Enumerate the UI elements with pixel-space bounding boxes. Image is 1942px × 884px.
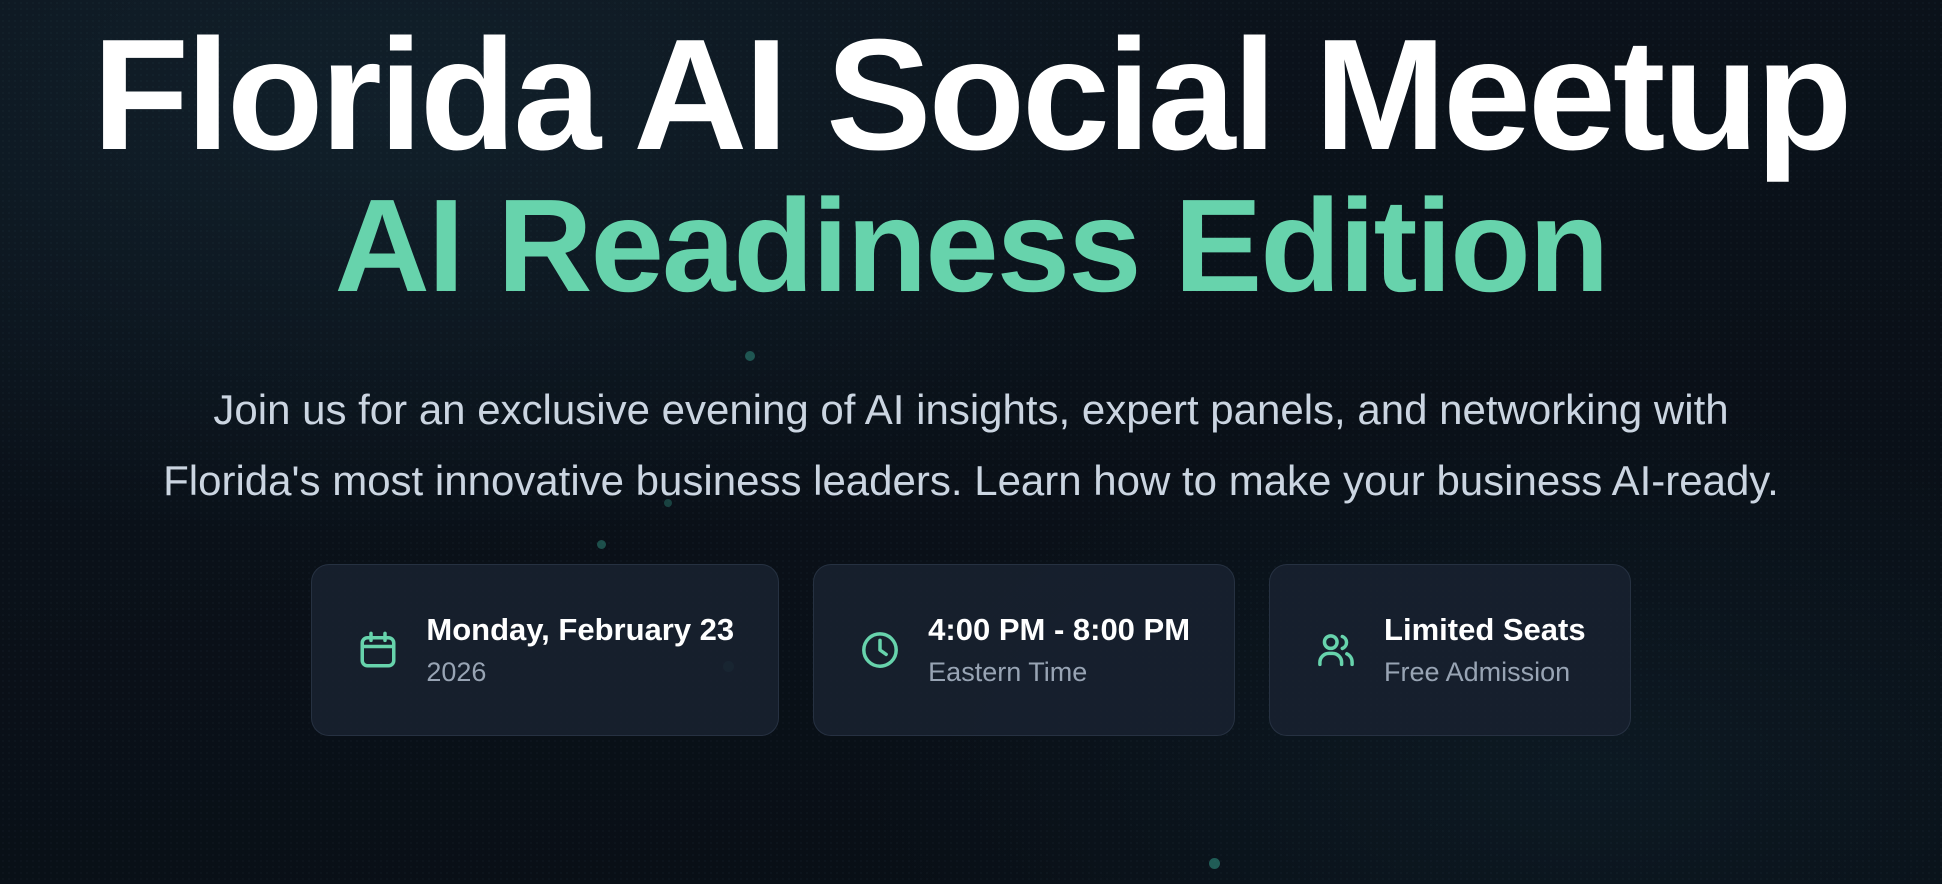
info-card-subtitle: 2026 [426, 654, 734, 690]
page-subtitle: AI Readiness Edition [0, 174, 1942, 312]
hero-section: Florida AI Social Meetup AI Readiness Ed… [0, 0, 1942, 884]
hero-content: Florida AI Social Meetup AI Readiness Ed… [0, 0, 1942, 736]
calendar-icon [356, 628, 400, 672]
hero-description: Join us for an exclusive evening of AI i… [131, 312, 1811, 516]
decorative-dot [1209, 858, 1220, 869]
info-card-subtitle: Free Admission [1384, 654, 1586, 690]
info-card-title: Limited Seats [1384, 610, 1586, 650]
info-card-date: Monday, February 23 2026 [311, 564, 779, 736]
info-card-seats: Limited Seats Free Admission [1269, 564, 1631, 736]
info-card-subtitle: Eastern Time [928, 654, 1190, 690]
users-icon [1314, 628, 1358, 672]
page-title: Florida AI Social Meetup [0, 16, 1942, 174]
info-card-list: Monday, February 23 2026 4:00 PM - 8:00 … [0, 516, 1942, 736]
clock-icon [858, 628, 902, 672]
info-card-time: 4:00 PM - 8:00 PM Eastern Time [813, 564, 1235, 736]
info-card-title: 4:00 PM - 8:00 PM [928, 610, 1190, 650]
info-card-title: Monday, February 23 [426, 610, 734, 650]
